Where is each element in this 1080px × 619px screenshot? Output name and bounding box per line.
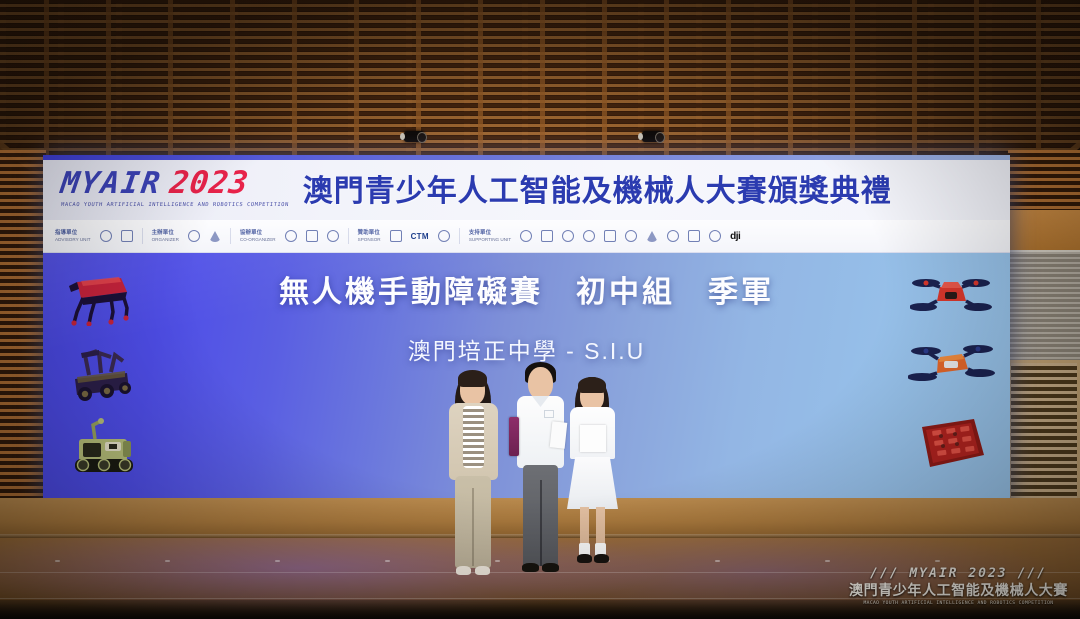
hair bbox=[458, 370, 487, 387]
sponsor-label-en: ADVISORY UNIT bbox=[55, 237, 91, 242]
white-skirt bbox=[567, 457, 618, 509]
sponsor-label-en: SUPPORTING UNIT bbox=[469, 237, 511, 242]
sponsor-label-en: CO-ORGANIZER bbox=[240, 237, 276, 242]
sponsor-mark-icon bbox=[438, 230, 450, 242]
student-girl bbox=[563, 375, 623, 591]
sponsor-group-sponsor: 贊助單位SPONSOR bbox=[358, 230, 381, 242]
sponsor-label-cn: 支持單位 bbox=[469, 230, 511, 237]
sponsor-mark-icon bbox=[188, 230, 200, 242]
logo-year: 2023 bbox=[168, 168, 251, 199]
right-wall-blind bbox=[1008, 250, 1080, 360]
hair bbox=[578, 377, 606, 393]
sponsor-label-cn: 協辦單位 bbox=[240, 230, 276, 237]
sponsor-mark-icon bbox=[306, 230, 318, 242]
sponsor-label-cn: 贊助單位 bbox=[358, 230, 381, 237]
award-team-text: 澳門培正中學 - S.I.U bbox=[43, 332, 1010, 366]
sponsor-mark-icon bbox=[688, 230, 700, 242]
shoe bbox=[522, 563, 539, 572]
watermark: /// MYAIR 2023 /// 澳門青少年人工智能及機械人大賽 MACAO… bbox=[849, 566, 1068, 607]
sponsor-mark-icon bbox=[285, 230, 297, 242]
sponsor-logo-strip: 指導單位ADVISORY UNIT 主辦單位ORGANIZER 協辦單位CO-O… bbox=[43, 220, 1010, 253]
sponsor-label-cn: 主辦單位 bbox=[152, 230, 179, 237]
quadcopter-drone-icon bbox=[908, 337, 996, 393]
sponsor-mark-icon bbox=[667, 230, 679, 242]
spotlight-icon bbox=[404, 131, 424, 142]
tracked-robot-icon bbox=[65, 417, 145, 479]
trophy bbox=[509, 417, 519, 456]
watermark-line-2: 澳門青少年人工智能及機械人大賽 bbox=[849, 582, 1068, 599]
sponsor-mark-icon bbox=[100, 230, 112, 242]
ceiling-shading bbox=[0, 0, 1080, 162]
sponsor-divider bbox=[459, 228, 460, 244]
logo-subtitle: MACAO YOUTH ARTIFICIAL INTELLIGENCE AND … bbox=[61, 202, 289, 208]
award-announcement: 無人機手動障礙賽 初中組 季軍 澳門培正中學 - S.I.U bbox=[43, 267, 1010, 366]
award-ceremony-photo: MYAIR 2023 MACAO YOUTH ARTIFICIAL INTELL… bbox=[0, 0, 1080, 619]
certificate bbox=[580, 425, 606, 452]
sponsor-mark-icon bbox=[562, 230, 574, 242]
sponsor-label-en: ORGANIZER bbox=[152, 237, 179, 242]
sponsor-divider bbox=[230, 228, 231, 244]
sponsor-brand-ctm: CTM bbox=[411, 232, 429, 241]
event-title-cn: 澳門青少年人工智能及機械人大賽頒獎典禮 bbox=[303, 166, 892, 210]
trouser-seam bbox=[540, 480, 542, 566]
head bbox=[528, 367, 553, 399]
watermark-line-3: MACAO YOUTH ARTIFICIAL INTELLIGENCE AND … bbox=[849, 601, 1068, 607]
sponsor-group-coorganizer: 協辦單位CO-ORGANIZER bbox=[240, 230, 276, 242]
spotlight-icon bbox=[642, 131, 662, 142]
sponsor-mark-icon bbox=[209, 231, 221, 242]
sponsor-label-cn: 指導單位 bbox=[55, 230, 91, 237]
sponsor-divider bbox=[348, 228, 349, 244]
shoe bbox=[594, 554, 609, 563]
right-wall-slats bbox=[1008, 150, 1080, 210]
shoe bbox=[542, 563, 559, 572]
sponsor-mark-icon bbox=[625, 230, 637, 242]
sponsor-mark-icon bbox=[541, 230, 553, 242]
sponsor-mark-icon bbox=[390, 230, 402, 242]
auditorium-ceiling bbox=[0, 0, 1080, 162]
shirt-pocket bbox=[544, 410, 554, 418]
sponsor-group-organizer: 主辦單位ORGANIZER bbox=[152, 230, 179, 242]
sponsor-group-supporting: 支持單位SUPPORTING UNIT bbox=[469, 230, 511, 242]
robotics-kit-tray-icon bbox=[908, 411, 990, 473]
screen-header-bar: MYAIR 2023 MACAO YOUTH ARTIFICIAL INTELL… bbox=[43, 155, 1010, 220]
presenter-woman bbox=[443, 368, 505, 588]
striped-top bbox=[463, 406, 484, 468]
watermark-line-1: /// MYAIR 2023 /// bbox=[849, 566, 1068, 582]
trouser-seam bbox=[472, 488, 474, 566]
sponsor-divider bbox=[142, 228, 143, 244]
sponsor-mark-icon bbox=[121, 230, 133, 242]
sponsor-mark-icon bbox=[709, 230, 721, 242]
quadruped-robot-dog-icon bbox=[61, 268, 139, 326]
logo-wordmark: MYAIR bbox=[59, 169, 164, 199]
sponsor-mark-icon bbox=[327, 230, 339, 242]
sponsor-mark-icon bbox=[583, 230, 595, 242]
sponsor-mark-icon bbox=[604, 230, 616, 242]
sponsor-group-advisory: 指導單位ADVISORY UNIT bbox=[55, 230, 91, 242]
myair-logo: MYAIR 2023 MACAO YOUTH ARTIFICIAL INTELL… bbox=[61, 168, 289, 208]
sponsor-label-en: SPONSOR bbox=[358, 237, 381, 242]
shoe bbox=[577, 554, 592, 563]
quadcopter-drone-icon bbox=[910, 267, 992, 321]
shoe bbox=[475, 566, 490, 575]
award-category-text: 無人機手動障礙賽 初中組 季軍 bbox=[43, 267, 1010, 311]
robot-arm-rover-icon bbox=[65, 343, 137, 405]
shoe bbox=[456, 566, 471, 575]
sponsor-brand-dji: dji bbox=[730, 231, 740, 242]
sponsor-mark-icon bbox=[646, 231, 658, 242]
sponsor-mark-icon bbox=[520, 230, 532, 242]
right-wall-band bbox=[1008, 210, 1080, 250]
